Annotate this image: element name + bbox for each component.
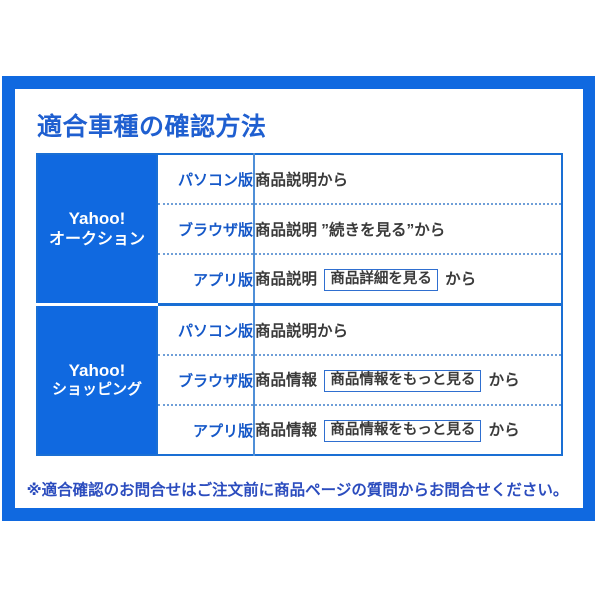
ui-button-reference: 商品情報をもっと見る xyxy=(324,420,481,442)
blue-outer-frame: 適合車種の確認方法 Yahoo! オークション パソコン版 商品説明から xyxy=(2,76,595,521)
platform-label-browser-auction: ブラウザ版 xyxy=(157,204,254,254)
description-cell: 商品情報 商品情報をもっと見る から xyxy=(254,355,562,405)
description-prefix: 商品説明 xyxy=(255,271,317,288)
brand-cell-auction: Yahoo! オークション xyxy=(37,154,157,305)
ui-button-reference: 商品詳細を見る xyxy=(324,269,438,291)
frame-inner-panel: 適合車種の確認方法 Yahoo! オークション パソコン版 商品説明から xyxy=(15,89,583,508)
description-suffix: から xyxy=(489,422,520,439)
brand-name-line2: ショッピング xyxy=(38,381,156,400)
description-cell: 商品説明から xyxy=(254,305,562,356)
table-row: Yahoo! オークション パソコン版 商品説明から xyxy=(37,154,562,204)
platform-label-app-shopping: アプリ版 xyxy=(157,405,254,455)
description-cell: 商品説明 商品詳細を見る から xyxy=(254,254,562,305)
description-prefix: 商品説明から xyxy=(255,172,348,189)
description-prefix: 商品情報 xyxy=(255,372,317,389)
platform-label-app-auction: アプリ版 xyxy=(157,254,254,305)
description-cell: 商品説明 ”続きを見る”から xyxy=(254,204,562,254)
brand-name-line2: オークション xyxy=(38,230,156,250)
footer-note: ※適合確認のお問合せはご注文前に商品ページの質問からお問合せください。 xyxy=(25,478,570,500)
platform-label-browser-shopping: ブラウザ版 xyxy=(157,355,254,405)
platform-label-pc-auction: パソコン版 xyxy=(157,154,254,204)
description-cell: 商品情報 商品情報をもっと見る から xyxy=(254,405,562,455)
page-title: 適合車種の確認方法 xyxy=(37,107,267,143)
ui-button-reference: 商品情報をもっと見る xyxy=(324,370,481,392)
description-prefix: 商品説明から xyxy=(255,323,348,340)
table-row: Yahoo! ショッピング パソコン版 商品説明から xyxy=(37,305,562,356)
description-prefix: 商品情報 xyxy=(255,422,317,439)
description-cell: 商品説明から xyxy=(254,154,562,204)
description-prefix: 商品説明 ”続きを見る”から xyxy=(255,222,445,239)
platform-label-pc-shopping: パソコン版 xyxy=(157,305,254,356)
brand-name-line1: Yahoo! xyxy=(38,360,156,381)
compatibility-table: Yahoo! オークション パソコン版 商品説明から ブラウザ版 商品説明 ”続… xyxy=(36,153,563,456)
description-suffix: から xyxy=(489,372,520,389)
brand-cell-shopping: Yahoo! ショッピング xyxy=(37,305,157,456)
page-canvas: 適合車種の確認方法 Yahoo! オークション パソコン版 商品説明から xyxy=(0,0,600,600)
brand-name-line1: Yahoo! xyxy=(38,208,156,229)
description-suffix: から xyxy=(445,271,476,288)
